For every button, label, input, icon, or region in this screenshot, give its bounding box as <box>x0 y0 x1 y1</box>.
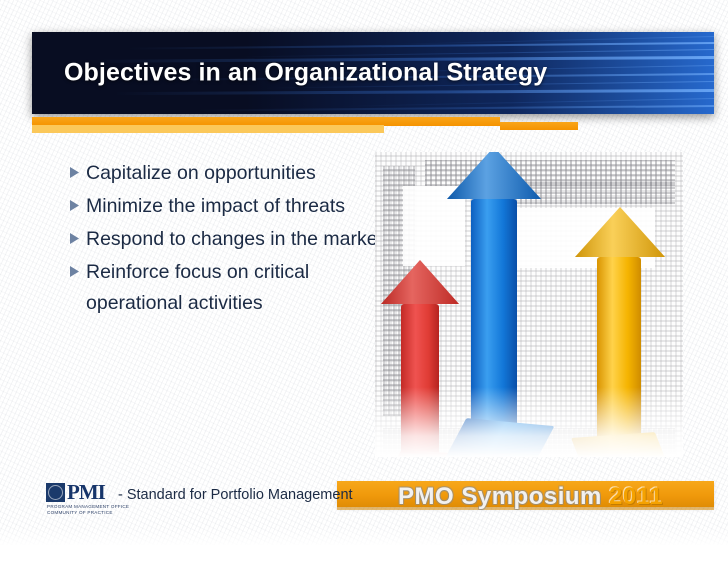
bullet-text: Minimize the impact of threats <box>86 191 385 222</box>
accent-bar-light <box>32 125 384 133</box>
bullet-list: Capitalize on opportunities Minimize the… <box>70 158 385 321</box>
triangle-bullet-icon <box>70 224 86 244</box>
pmi-logo: PMI <box>46 483 105 502</box>
title-banner: Objectives in an Organizational Strategy <box>32 32 714 114</box>
slide-title: Objectives in an Organizational Strategy <box>64 59 547 88</box>
bullet-text: Capitalize on opportunities <box>86 158 385 189</box>
triangle-bullet-icon <box>70 257 86 277</box>
event-year: 2011 <box>609 483 663 510</box>
pmi-globe-icon <box>46 483 65 502</box>
image-floor-fade <box>375 387 683 457</box>
footer-standard-text: - Standard for Portfolio Management <box>118 487 353 503</box>
slide-image-arrows <box>375 152 683 457</box>
bullet-text: Reinforce focus on critical operational … <box>86 257 385 319</box>
triangle-bullet-icon <box>70 191 86 211</box>
triangle-bullet-icon <box>70 158 86 178</box>
list-item: Reinforce focus on critical operational … <box>70 257 385 319</box>
accent-bar-stub <box>500 122 578 130</box>
presentation-slide: Objectives in an Organizational Strategy… <box>0 0 728 563</box>
event-watermark: PMO Symposium 2011 <box>398 483 663 511</box>
list-item: Minimize the impact of threats <box>70 191 385 222</box>
list-item: Capitalize on opportunities <box>70 158 385 189</box>
bullet-text: Respond to changes in the market <box>86 224 385 255</box>
pmi-logo-letters: PMI <box>67 483 105 502</box>
list-item: Respond to changes in the market <box>70 224 385 255</box>
event-name: PMO Symposium <box>398 483 602 510</box>
pmi-logo-subtitle: PROGRAM MANAGEMENT OFFICE COMMUNITY OF P… <box>47 504 129 516</box>
pmi-subtitle-line-2: COMMUNITY OF PRACTICE <box>47 510 129 516</box>
slide-bottom-fade <box>0 528 728 563</box>
